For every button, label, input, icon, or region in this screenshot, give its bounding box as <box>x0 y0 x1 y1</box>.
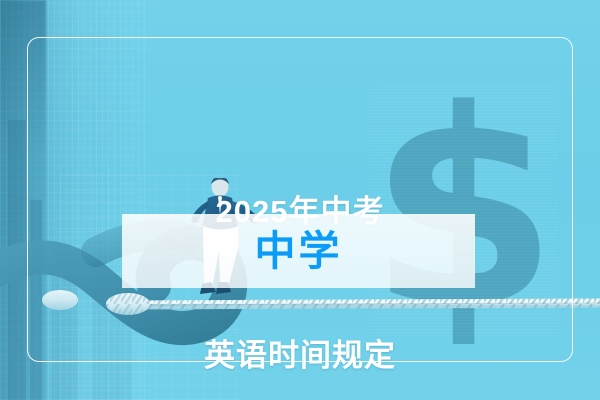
title-line-2: 英语时间规定 <box>0 332 600 380</box>
subtitle-text: 中学 <box>122 214 475 288</box>
poster-canvas: $ <box>0 0 600 400</box>
